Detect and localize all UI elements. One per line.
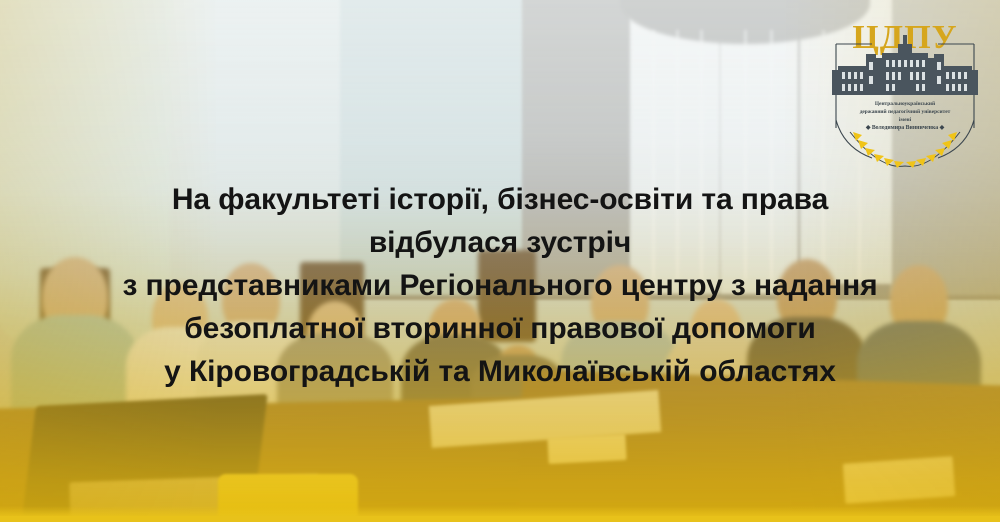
logo-caption-line-4: ◆ Володимира Винниченка ◆ — [865, 124, 945, 131]
headline-line-5: у Кіровоградській та Миколаївській облас… — [0, 350, 1000, 393]
bottom-gold-fade — [0, 506, 1000, 516]
cdpu-university-logo: ЦДПУ — [824, 8, 986, 170]
headline-line-4: безоплатної вторинної правової допомоги — [0, 307, 1000, 350]
logo-caption-line-2: державний педагогічний університет — [860, 108, 951, 115]
logo-caption-line-3: імені — [899, 117, 912, 123]
headline-line-1: На факультеті історії, бізнес-освіти та … — [0, 178, 1000, 221]
logo-caption-line-1: Центральноукраїнський — [875, 100, 935, 107]
headline-line-3: з представниками Регіонального центру з … — [0, 264, 1000, 307]
bottom-gold-bar — [0, 516, 1000, 522]
logo-wheat-wreath — [850, 132, 960, 168]
headline-line-2: відбулася зустріч — [0, 221, 1000, 264]
headline-block: На факультеті історії, бізнес-освіти та … — [0, 178, 1000, 393]
announcement-banner: ЦДПУ — [0, 0, 1000, 522]
